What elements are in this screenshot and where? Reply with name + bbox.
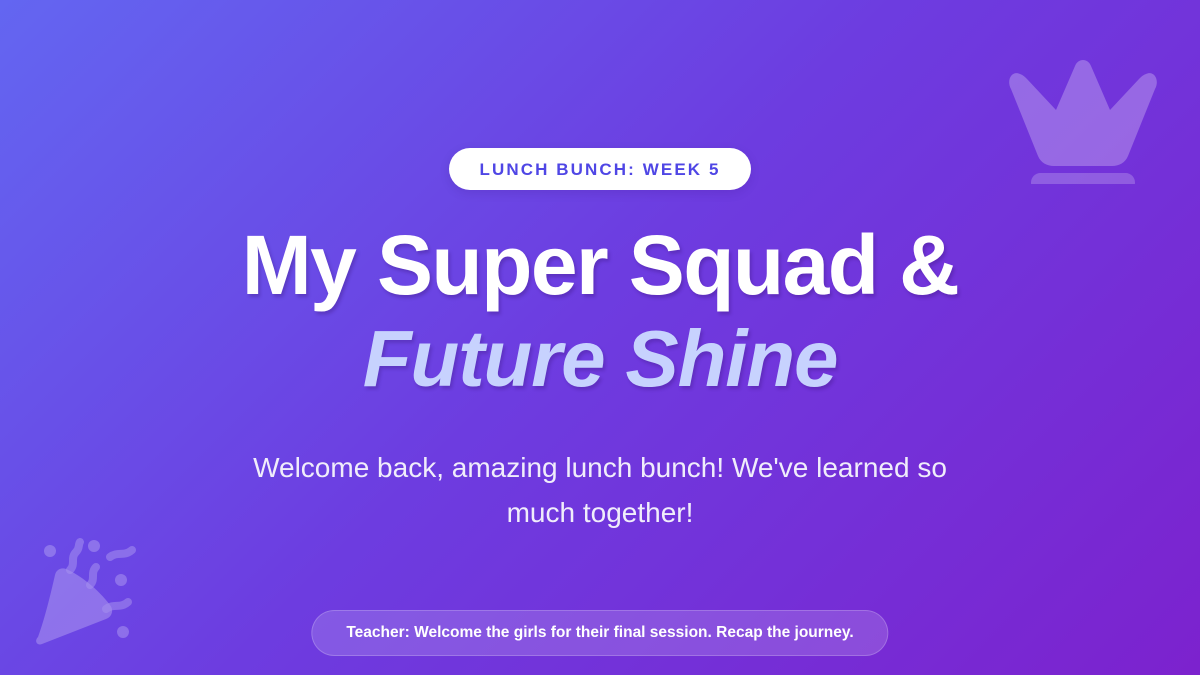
- headline-line-primary: My Super Squad &: [242, 224, 959, 307]
- teacher-note-banner: Teacher: Welcome the girls for their fin…: [311, 610, 888, 656]
- subtitle-text: Welcome back, amazing lunch bunch! We've…: [235, 446, 965, 534]
- headline-line-accent: Future Shine: [242, 319, 959, 398]
- slide-content: LUNCH BUNCH: WEEK 5 My Super Squad & Fut…: [0, 0, 1200, 675]
- week-badge: LUNCH BUNCH: WEEK 5: [449, 148, 750, 190]
- page-title: My Super Squad & Future Shine: [242, 224, 959, 398]
- slide-canvas: LUNCH BUNCH: WEEK 5 My Super Squad & Fut…: [0, 0, 1200, 675]
